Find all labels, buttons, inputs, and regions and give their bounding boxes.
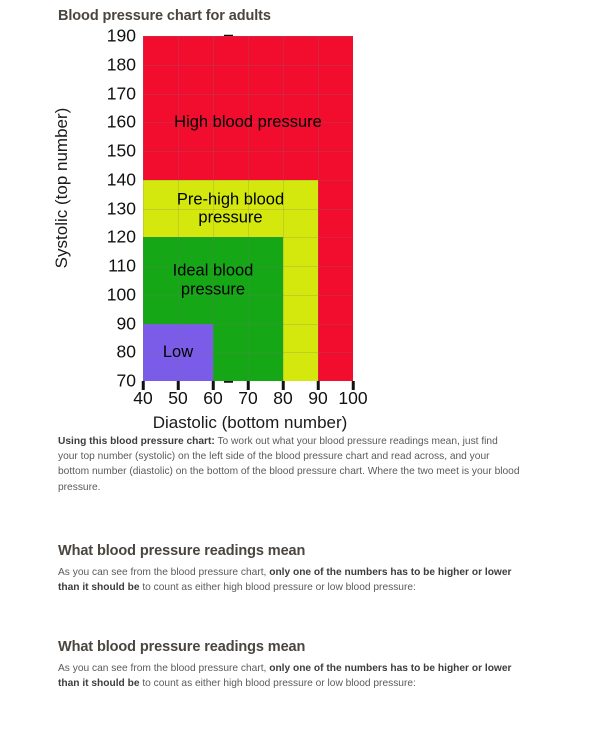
blood-pressure-chart: Systolic (top number) 708090100110120130…: [0, 28, 600, 436]
zone-label-pre-high-line1: Pre-high blood: [177, 190, 284, 208]
section-paragraph-2: As you can see from the blood pressure c…: [58, 661, 520, 691]
section-paragraph-1: As you can see from the blood pressure c…: [58, 565, 520, 595]
x-tick-label: 60: [203, 390, 222, 408]
zone-label-ideal: Ideal blood pressure: [173, 262, 254, 299]
section-heading-1: What blood pressure readings mean: [58, 543, 520, 559]
zone-label-ideal-line2: pressure: [181, 280, 245, 298]
zone-label-high: High blood pressure: [174, 113, 322, 131]
chart-plot-area: High blood pressure Pre-high blood press…: [143, 36, 353, 381]
gridline-horizontal: [143, 237, 353, 238]
section-readings-mean-1: What blood pressure readings mean As you…: [58, 543, 520, 595]
section-1-para-post: to count as either high blood pressure o…: [140, 582, 416, 593]
blood-pressure-chart-page: Blood pressure chart for adults Systolic…: [0, 0, 600, 730]
gridline-horizontal: [143, 94, 353, 95]
y-tick-label: 110: [108, 257, 136, 275]
x-tick-label: 40: [133, 390, 152, 408]
zone-label-low: Low: [163, 343, 193, 361]
y-tick-label: 170: [107, 85, 136, 103]
section-heading-2: What blood pressure readings mean: [58, 639, 520, 655]
y-tick-label: 120: [107, 229, 136, 247]
gridline-horizontal: [143, 36, 353, 37]
y-tick-label: 180: [107, 56, 136, 74]
zone-label-pre-high: Pre-high blood pressure: [177, 190, 284, 227]
x-axis-title: Diastolic (bottom number): [60, 413, 440, 433]
y-axis-tick-labels: 708090100110120130140150160170180190: [88, 36, 136, 381]
intro-lead: Using this blood pressure chart:: [58, 436, 215, 447]
y-tick-label: 190: [107, 27, 136, 45]
y-tick-label: 100: [107, 286, 136, 304]
x-tick-label: 70: [238, 390, 257, 408]
section-1-para-pre: As you can see from the blood pressure c…: [58, 567, 269, 578]
zone-label-ideal-line1: Ideal blood: [173, 262, 254, 280]
zone-high-blood-pressure-right: [318, 180, 353, 381]
y-tick-label: 140: [107, 171, 136, 189]
y-tick-label: 80: [117, 344, 136, 362]
y-tick-label: 130: [107, 200, 136, 218]
x-axis-tick-labels: 405060708090100: [143, 390, 353, 414]
y-tick-label: 160: [107, 114, 136, 132]
y-axis-title: Systolic (top number): [52, 78, 72, 298]
article-body: Using this blood pressure chart: To work…: [58, 434, 520, 696]
gridline-horizontal: [143, 65, 353, 66]
gridline-horizontal: [143, 180, 353, 181]
x-tick-label: 100: [338, 390, 367, 408]
gridline-horizontal: [143, 324, 353, 325]
section-readings-mean-2: What blood pressure readings mean As you…: [58, 639, 520, 691]
intro-paragraph: Using this blood pressure chart: To work…: [58, 434, 520, 495]
y-tick-label: 150: [107, 142, 136, 160]
page-title: Blood pressure chart for adults: [58, 8, 271, 24]
x-tick-label: 90: [308, 390, 327, 408]
gridline-horizontal: [143, 151, 353, 152]
section-2-para-pre: As you can see from the blood pressure c…: [58, 663, 269, 674]
x-tick-label: 50: [168, 390, 187, 408]
zone-label-pre-high-line2: pressure: [198, 209, 262, 227]
zone-pre-high-blood-pressure-right: [283, 237, 318, 381]
y-tick-label: 90: [117, 315, 136, 333]
x-tick-label: 80: [273, 390, 292, 408]
section-2-para-post: to count as either high blood pressure o…: [140, 678, 416, 689]
